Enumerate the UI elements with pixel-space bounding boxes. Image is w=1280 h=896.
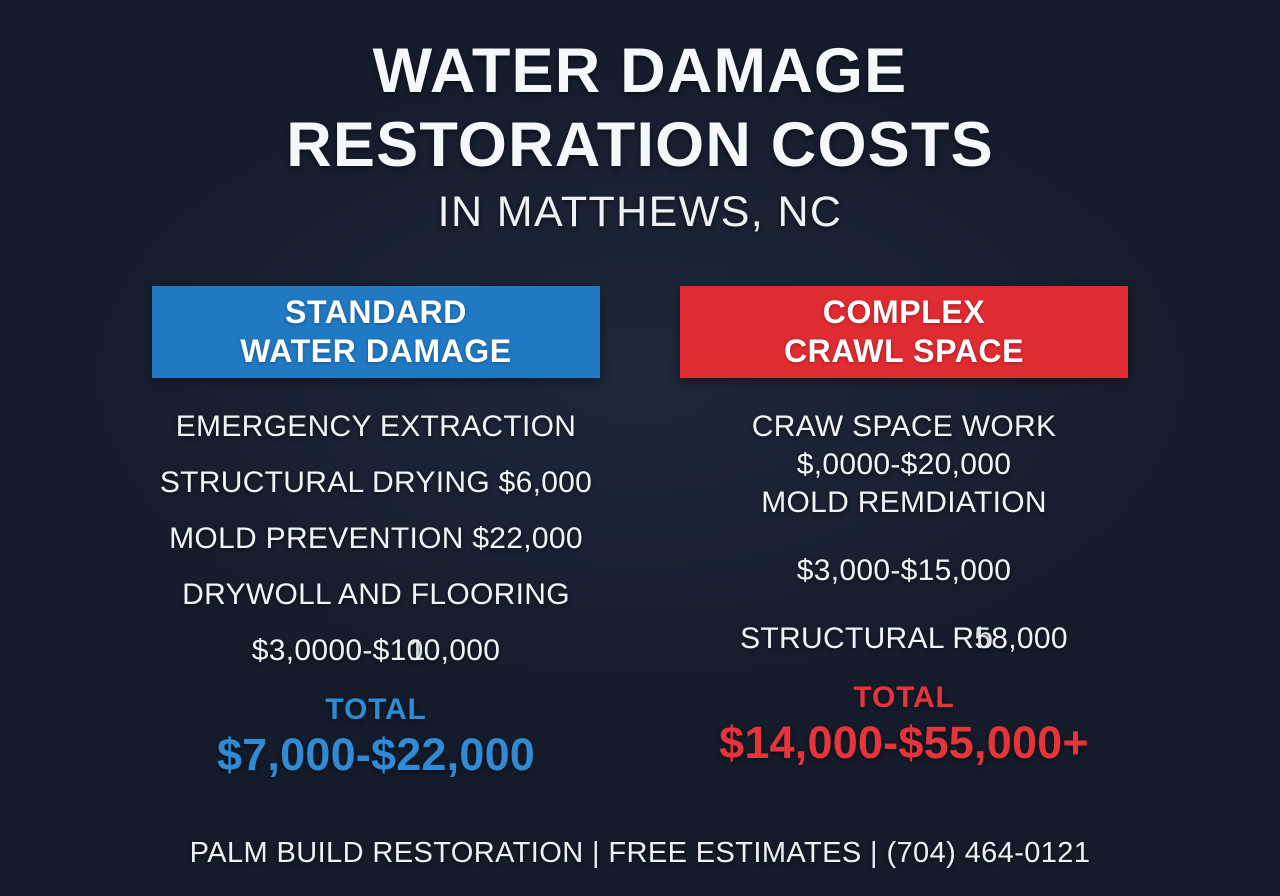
list-item: CRAW SPACE WORK bbox=[669, 408, 1139, 446]
price-suffix: 0,000 bbox=[424, 634, 501, 667]
overlap-ghost-glyph: 1 bbox=[409, 632, 426, 670]
column-standard-water-damage: STANDARD WATER DAMAGE EMERGENCY EXTRACTI… bbox=[152, 286, 600, 782]
page-title-line-1: WATER DAMAGE bbox=[0, 34, 1280, 108]
structural-suffix: 8,000 bbox=[991, 622, 1068, 655]
total-label: TOTAL bbox=[217, 692, 535, 728]
list-item: STRUCTURAL DRYING $6,000 bbox=[141, 464, 611, 502]
total-value: $7,000-$22,000 bbox=[217, 728, 535, 782]
page-title-line-2: RESTORATION COSTS bbox=[0, 108, 1280, 182]
price-prefix: $3,0000-$1 bbox=[252, 634, 407, 667]
standard-item-list: EMERGENCY EXTRACTION STRUCTURAL DRYING $… bbox=[141, 408, 611, 670]
column-complex-crawl-space: COMPLEX CRAWL SPACE CRAW SPACE WORK $,00… bbox=[680, 286, 1128, 782]
column-header-complex: COMPLEX CRAWL SPACE bbox=[680, 286, 1128, 378]
standard-total-block: TOTAL $7,000-$22,000 bbox=[217, 692, 535, 782]
list-item-price-overlapped: $3,0000-$1010,000 bbox=[141, 632, 611, 670]
list-item: MOLD PREVENTION $22,000 bbox=[141, 520, 611, 558]
column-header-standard-line-1: STANDARD bbox=[285, 293, 467, 332]
infographic-canvas: WATER DAMAGE RESTORATION COSTS IN MATTHE… bbox=[0, 0, 1280, 896]
column-header-standard-line-2: WATER DAMAGE bbox=[240, 332, 511, 371]
overlap-ghost-glyph: b bbox=[976, 620, 993, 658]
structural-prefix: STRUCTURAL R bbox=[740, 622, 974, 655]
complex-total-block: TOTAL $14,000-$55,000+ bbox=[719, 680, 1089, 770]
overlapping-glyph-pair: 01 bbox=[407, 632, 424, 670]
list-item: $3,000-$15,000 bbox=[669, 552, 1139, 590]
list-item: MOLD REMDIATION bbox=[669, 484, 1139, 522]
complex-item-list: CRAW SPACE WORK $,0000-$20,000 MOLD REMD… bbox=[669, 408, 1139, 658]
list-item: $,0000-$20,000 bbox=[669, 446, 1139, 484]
overlapping-glyph-pair: 5b bbox=[974, 620, 991, 658]
column-header-complex-line-2: CRAWL SPACE bbox=[784, 332, 1024, 371]
column-header-complex-line-1: COMPLEX bbox=[823, 293, 985, 332]
total-label: TOTAL bbox=[719, 680, 1089, 716]
page-subtitle: IN MATTHEWS, NC bbox=[0, 186, 1280, 238]
total-value: $14,000-$55,000+ bbox=[719, 716, 1089, 770]
list-item: EMERGENCY EXTRACTION bbox=[141, 408, 611, 446]
column-header-standard: STANDARD WATER DAMAGE bbox=[152, 286, 600, 378]
list-item-structural-overlapped: STRUCTURAL R5b8,000 bbox=[669, 620, 1139, 658]
header-block: WATER DAMAGE RESTORATION COSTS IN MATTHE… bbox=[0, 34, 1280, 238]
cost-columns: STANDARD WATER DAMAGE EMERGENCY EXTRACTI… bbox=[0, 286, 1280, 782]
list-item: DRYWOLL AND FLOORING bbox=[141, 576, 611, 614]
footer-contact-line: PALM BUILD RESTORATION | FREE ESTIMATES … bbox=[0, 837, 1280, 870]
